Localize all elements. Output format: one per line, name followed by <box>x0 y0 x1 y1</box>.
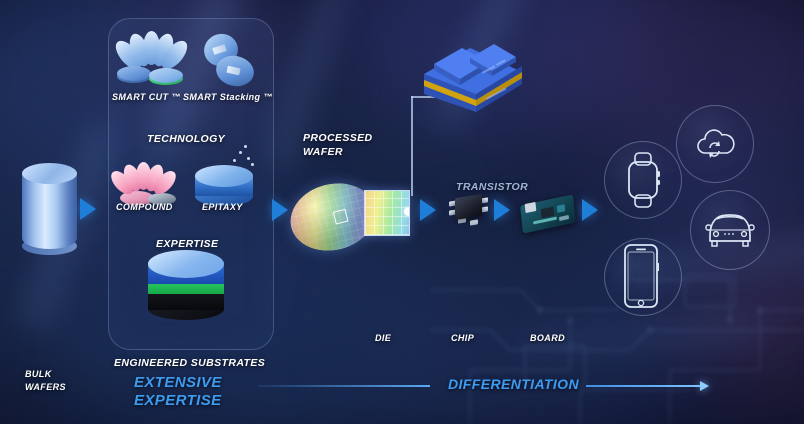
bulk-wafers-label: BULK WAFERS <box>25 368 66 394</box>
arrow-board-to-devices <box>582 199 598 221</box>
differentiation-label: DIFFERENTIATION <box>448 376 579 392</box>
chip-package-3d-icon <box>418 36 528 112</box>
die-label: DIE <box>375 333 391 343</box>
arrow-substrates-to-wafer <box>272 199 288 221</box>
arrow-transistor-to-board <box>494 199 510 221</box>
wafer-die-zoom-inset <box>364 190 410 236</box>
extensive-label: EXTENSIVE <box>134 374 222 391</box>
differentiation-line-left <box>258 385 430 387</box>
smart-cut-icon <box>115 32 187 90</box>
expertise-heading: EXPERTISE <box>156 238 218 250</box>
transistor-label: TRANSISTOR <box>456 181 528 193</box>
transistor-icon <box>448 192 490 230</box>
smart-cut-label: SMART CUT ™ <box>112 92 181 102</box>
cloud-icon <box>694 126 736 160</box>
car-icon <box>704 206 756 250</box>
chip-label: CHIP <box>451 333 474 343</box>
smart-stacking-icon <box>196 34 258 90</box>
engineered-substrates-label: ENGINEERED SUBSTRATES <box>114 357 265 369</box>
infographic-canvas: SMART CUT ™ SMART Stacking ™ TECHNOLOGY … <box>0 0 804 424</box>
expertise-tagline-label: EXPERTISE <box>134 392 222 409</box>
smartphone-icon <box>623 243 659 309</box>
epitaxy-label: EPITAXY <box>202 202 243 212</box>
bulk-wafer-ingot-icon <box>22 163 77 255</box>
circuit-board-icon <box>521 196 577 232</box>
board-label: BOARD <box>530 333 565 343</box>
arrow-ingot-to-substrates <box>80 198 96 220</box>
processed-wafer-label: PROCESSED WAFER <box>303 131 373 159</box>
differentiation-line-right <box>586 385 704 387</box>
smart-stacking-label: SMART Stacking ™ <box>183 92 273 102</box>
smartwatch-icon <box>625 152 661 208</box>
technology-heading: TECHNOLOGY <box>147 133 225 145</box>
arrow-wafer-to-transistor <box>420 199 436 221</box>
engineered-substrate-stack-icon <box>148 250 226 320</box>
differentiation-arrowhead <box>700 381 709 391</box>
compound-label: COMPOUND <box>116 202 173 212</box>
